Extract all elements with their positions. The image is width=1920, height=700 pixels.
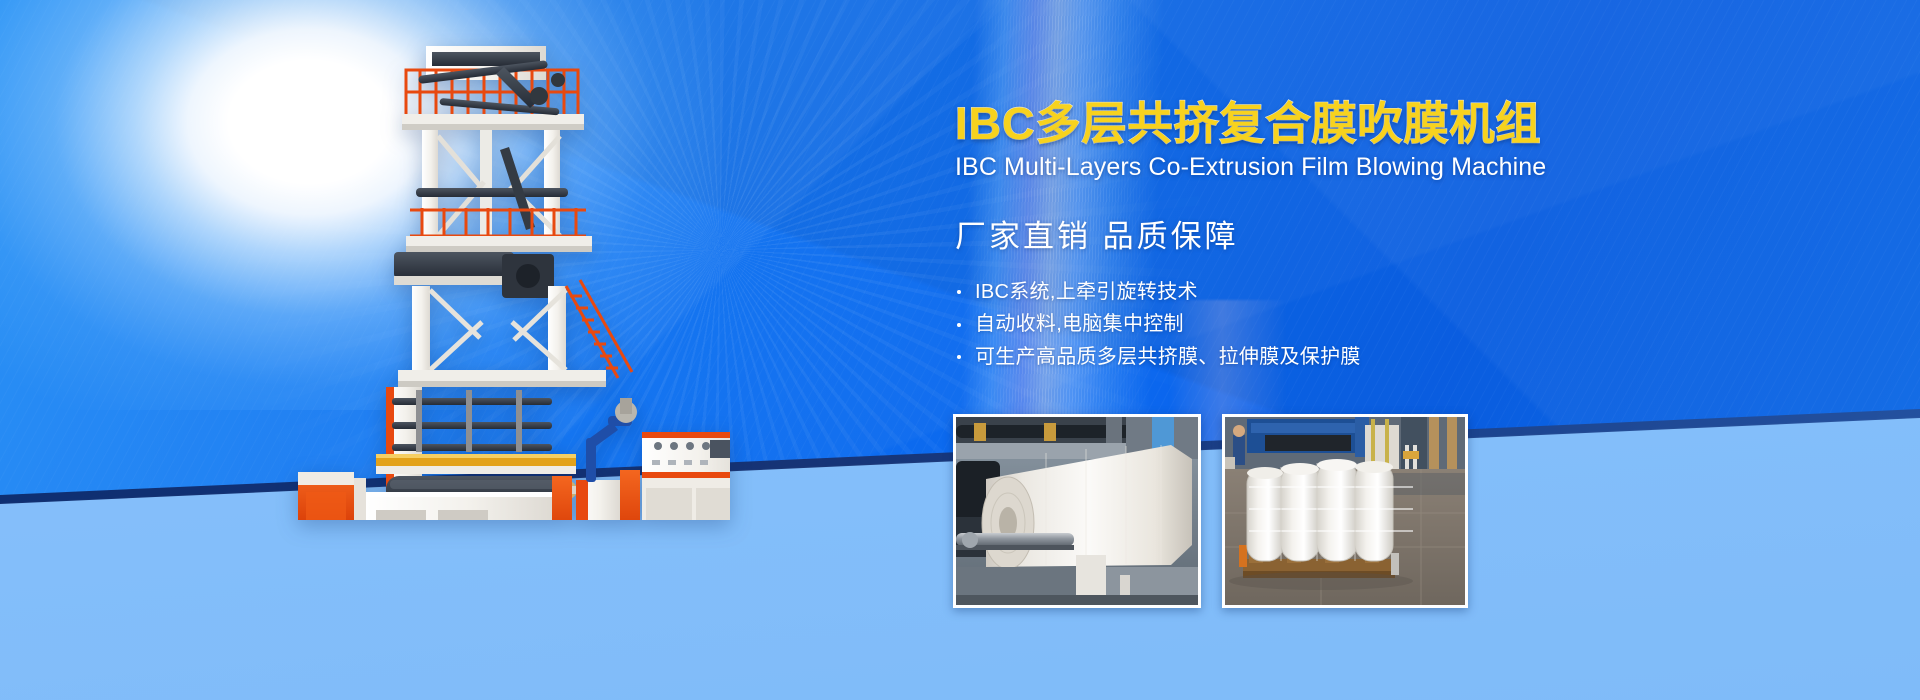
film-blowing-machine-photo xyxy=(290,40,730,520)
pallet-photo xyxy=(1222,414,1468,608)
banner-headline: IBC多层共挤复合膜吹膜机组 xyxy=(955,100,1655,149)
feature-text: 可生产高品质多层共挤膜、拉伸膜及保护膜 xyxy=(975,346,1361,368)
feature-list-item: IBC系统,上牵引旋转技术 xyxy=(955,276,1655,308)
feature-list: IBC系统,上牵引旋转技术 自动收料,电脑集中控制 可生产高品质多层共挤膜、拉伸… xyxy=(955,276,1655,373)
bullet-dot-icon xyxy=(957,323,961,327)
film-roll-photo xyxy=(953,414,1201,608)
feature-list-item: 可生产高品质多层共挤膜、拉伸膜及保护膜 xyxy=(955,341,1655,373)
banner-subheadline: IBC Multi-Layers Co-Extrusion Film Blowi… xyxy=(955,154,1655,182)
bullet-dot-icon xyxy=(957,290,961,294)
product-banner: IBC多层共挤复合膜吹膜机组 IBC Multi-Layers Co-Extru… xyxy=(0,0,1920,700)
feature-text: IBC系统,上牵引旋转技术 xyxy=(975,281,1198,303)
bullet-dot-icon xyxy=(957,355,961,359)
banner-tagline: 厂家直销 品质保障 xyxy=(955,211,1655,256)
feature-list-item: 自动收料,电脑集中控制 xyxy=(955,308,1655,340)
feature-text: 自动收料,电脑集中控制 xyxy=(975,313,1184,335)
banner-copy: IBC多层共挤复合膜吹膜机组 IBC Multi-Layers Co-Extru… xyxy=(955,100,1655,389)
